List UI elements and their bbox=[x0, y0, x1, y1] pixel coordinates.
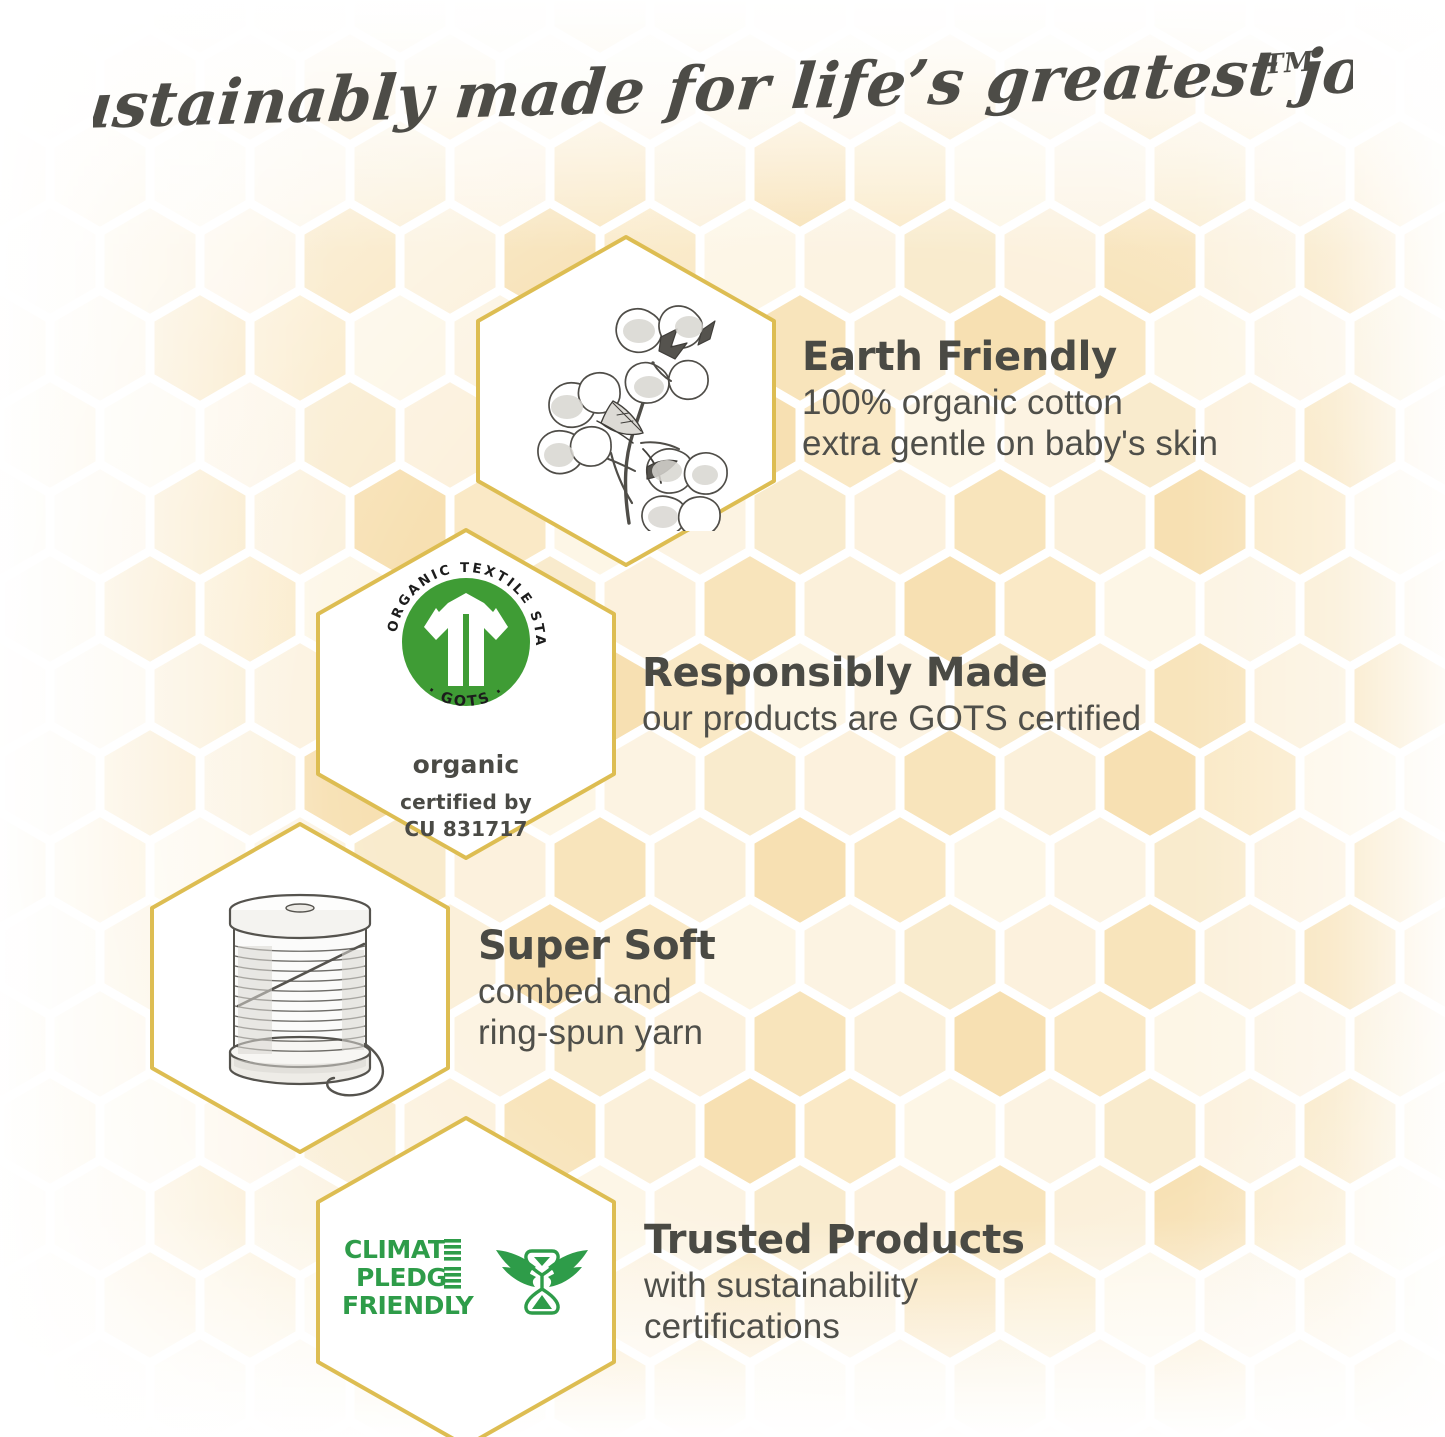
feature-copy-trusted-products: Trusted Products with sustainability cer… bbox=[644, 1220, 1025, 1344]
feature-line: 100% organic cotton bbox=[802, 385, 1218, 420]
hexagon-card-cotton bbox=[466, 231, 786, 571]
climate-pledge-wordmark: CLIMAT PLEDG FRIENDLY bbox=[342, 1234, 480, 1330]
hexagon-card-spool bbox=[140, 818, 460, 1158]
sustainability-infographic: sustainably made for life’s greatest joy… bbox=[0, 0, 1445, 1437]
trademark-symbol: TM bbox=[1262, 46, 1315, 80]
climate-pledge-friendly-logo: CLIMAT PLEDG FRIENDLY bbox=[342, 1234, 590, 1330]
page-title: sustainably made for life’s greatest joy… bbox=[0, 38, 1445, 142]
feature-responsibly-made: GLOBAL ORGANIC TEXTILE STANDARD · GOTS ·… bbox=[306, 524, 1141, 864]
feature-line: with sustainability bbox=[644, 1268, 1025, 1303]
winged-hourglass-icon bbox=[494, 1241, 590, 1323]
feature-copy-super-soft: Super Soft combed and ring-spun yarn bbox=[478, 926, 716, 1050]
feature-line: certifications bbox=[644, 1309, 1025, 1344]
feature-copy-responsibly-made: Responsibly Made our products are GOTS c… bbox=[642, 653, 1141, 736]
feature-line: extra gentle on baby's skin bbox=[802, 426, 1218, 461]
gots-seal-icon: GLOBAL ORGANIC TEXTILE STANDARD · GOTS · bbox=[372, 548, 560, 736]
feature-line: combed and bbox=[478, 974, 716, 1009]
gots-badge: GLOBAL ORGANIC TEXTILE STANDARD · GOTS ·… bbox=[372, 548, 560, 842]
cpf-line-2: PLEDG bbox=[356, 1263, 447, 1292]
hexagon-card-gots: GLOBAL ORGANIC TEXTILE STANDARD · GOTS ·… bbox=[306, 524, 626, 864]
cotton-branch-icon bbox=[501, 271, 751, 531]
feature-earth-friendly: Earth Friendly 100% organic cotton extra… bbox=[466, 231, 1218, 571]
gots-certified-by: certified by bbox=[400, 790, 532, 815]
feature-title: Trusted Products bbox=[644, 1220, 1025, 1260]
feature-trusted-products: CLIMAT PLEDG FRIENDLY bbox=[306, 1112, 1025, 1437]
tagline-text: sustainably made for life’s greatest joy bbox=[93, 38, 1353, 142]
cpf-line-3: FRIENDLY bbox=[342, 1291, 475, 1320]
feature-title: Responsibly Made bbox=[642, 653, 1141, 693]
thread-spool-icon bbox=[182, 866, 418, 1110]
feature-copy-earth-friendly: Earth Friendly 100% organic cotton extra… bbox=[802, 337, 1218, 465]
feature-line: ring-spun yarn bbox=[478, 1015, 716, 1050]
hexagon-card-climate-pledge: CLIMAT PLEDG FRIENDLY bbox=[306, 1112, 626, 1437]
feature-super-soft: Super Soft combed and ring-spun yarn bbox=[140, 818, 716, 1158]
cpf-line-1: CLIMAT bbox=[344, 1235, 445, 1264]
feature-title: Super Soft bbox=[478, 926, 716, 966]
feature-line: our products are GOTS certified bbox=[642, 701, 1141, 736]
feature-title: Earth Friendly bbox=[802, 337, 1218, 377]
gots-organic-label: organic bbox=[413, 750, 520, 779]
